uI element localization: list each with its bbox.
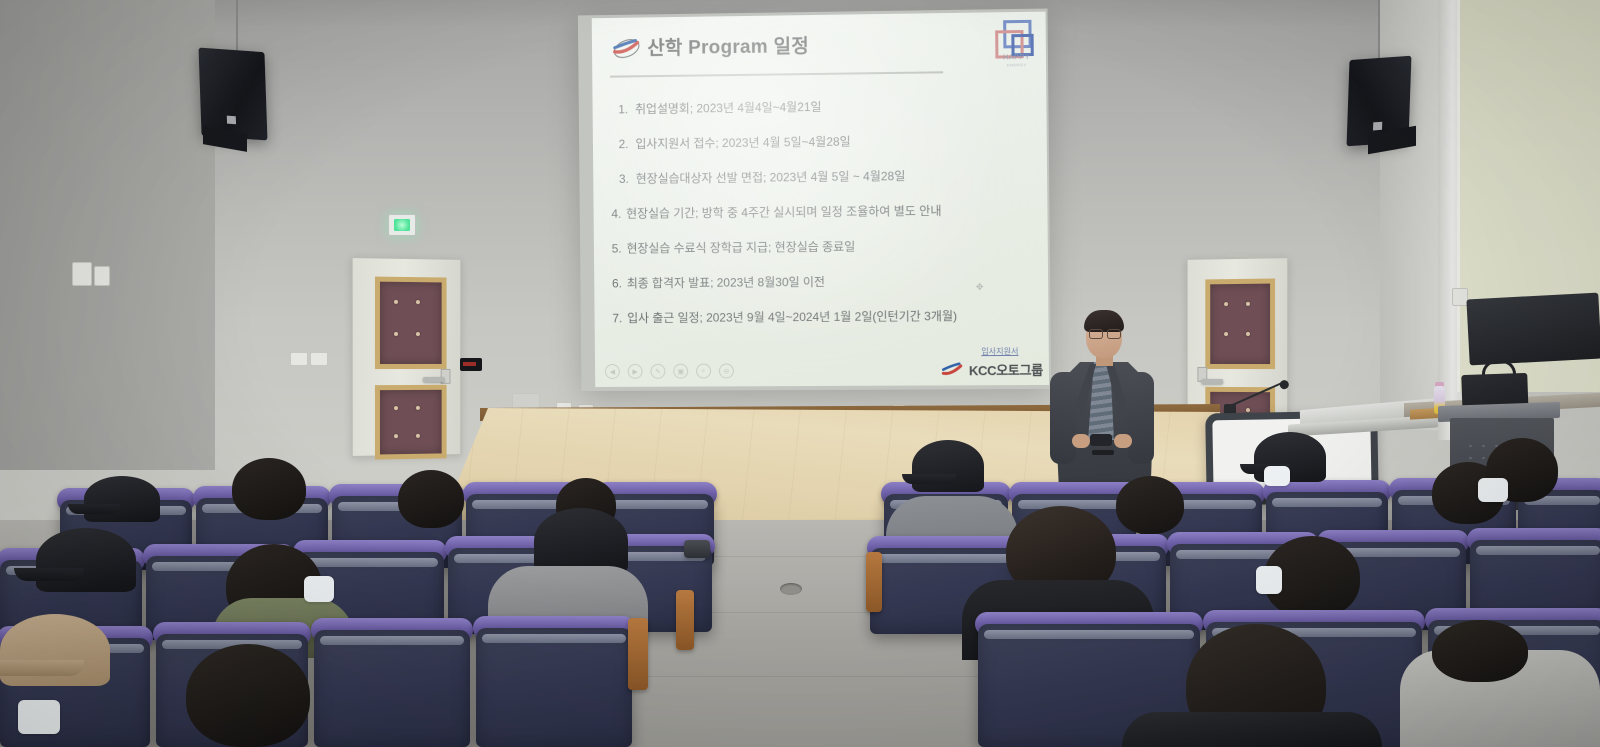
- presentation-slide: 산학 Program 일정 HAPPY ENERGY 1. 취업설명회; 202…: [592, 12, 1049, 387]
- speaker-right-pole: [1378, 0, 1380, 60]
- person-head: [1116, 476, 1184, 534]
- door-left-panel-lower: [375, 385, 447, 460]
- list-item-text: 입사지원서 접수; 2023년 4월 5일~4월28일: [635, 136, 850, 150]
- wall-outlet-b: [310, 352, 328, 366]
- list-item-text: 현장실습 기간; 방학 중 4주간 실시되며 일정 조율하여 별도 안내: [626, 205, 941, 220]
- list-item-text: 취업설명회; 2023년 4월4일~4월21일: [635, 101, 822, 115]
- speaker-left-pole: [236, 0, 238, 54]
- wall-monitor: [1466, 293, 1600, 366]
- list-item-number: 3.: [607, 173, 629, 185]
- face-mask: [1256, 566, 1282, 594]
- face-mask: [1478, 478, 1508, 502]
- door-left-handle[interactable]: [423, 377, 445, 382]
- kcc-footer-text: KCC오토그룹: [969, 360, 1043, 379]
- application-form-link[interactable]: 입사지원서: [981, 346, 1018, 357]
- pen-icon[interactable]: ✎: [650, 364, 665, 379]
- face-mask: [18, 700, 60, 734]
- person-head: [1432, 620, 1528, 682]
- wall-plate-left-a: [72, 262, 92, 286]
- list-item: 1. 취업설명회; 2023년 4월4일~4월21일: [606, 98, 1034, 115]
- door-right-handle[interactable]: [1201, 379, 1223, 384]
- list-item-number: 4.: [607, 208, 621, 220]
- seat-armrest: [628, 618, 648, 690]
- wall-outlet-a: [290, 352, 308, 366]
- eyeglasses-icon: [1089, 329, 1119, 337]
- list-item-text: 입사 출근 일정; 2023년 9월 4일~2024년 1월 2일(인턴기간 3…: [627, 310, 957, 324]
- person-head-cap: [534, 508, 628, 574]
- list-item-text: 현장실습 수료식 장학급 지급; 현장실습 종료일: [626, 241, 855, 255]
- presenter-arm-left: [1050, 372, 1076, 464]
- projection-screen: 산학 Program 일정 HAPPY ENERGY 1. 취업설명회; 202…: [578, 9, 1051, 392]
- slide-title-rule: [610, 71, 943, 77]
- exit-sign-glow: [394, 219, 410, 231]
- person-torso: [1122, 712, 1382, 747]
- list-item-number: 1.: [606, 103, 628, 115]
- door-left[interactable]: [352, 257, 462, 457]
- list-item-text: 현장실습대상자 선발 면접; 2023년 4월 5일 ~ 4월28일: [636, 170, 906, 185]
- presentation-clicker: [1090, 434, 1112, 446]
- person-head-cap: [36, 528, 136, 592]
- person-head: [398, 470, 464, 528]
- presenter-belt: [1092, 450, 1114, 455]
- speaker-right-badge: [1373, 122, 1382, 131]
- person-head: [186, 644, 310, 747]
- list-item: 7. 입사 출근 일정; 2023년 9월 4일~2024년 1월 2일(인턴기…: [608, 310, 1036, 325]
- person-head-cap-tan: [0, 614, 110, 686]
- prev-slide-icon[interactable]: ◀: [605, 364, 620, 379]
- list-item: 3. 현장실습대상자 선발 면접; 2023년 4월 5일 ~ 4월28일: [607, 169, 1035, 185]
- next-slide-icon[interactable]: ▶: [628, 364, 643, 379]
- door-keypad[interactable]: [460, 358, 482, 371]
- mouse-cursor: ✥: [976, 282, 984, 293]
- wall-plate-left-b: [94, 266, 110, 286]
- slide-title: 산학 Program 일정: [647, 31, 809, 60]
- speaker-left-badge: [227, 116, 236, 125]
- person-head-cap: [84, 476, 160, 522]
- list-item-number: 5.: [608, 243, 622, 255]
- slide-header: 산학 Program 일정: [602, 26, 1032, 76]
- microphone-arm: [1228, 382, 1284, 408]
- list-item-text: 최종 합격자 발표; 2023년 8월30일 이전: [627, 276, 825, 289]
- kcc-footer-logo: KCC오토그룹: [939, 360, 1043, 380]
- seat-tablet-arm: [684, 540, 710, 558]
- person-head-cap: [912, 440, 984, 492]
- slide-agenda-list: 1. 취업설명회; 2023년 4월4일~4월21일 2. 입사지원서 접수; …: [606, 98, 1036, 347]
- door-left-panel-upper: [375, 277, 447, 370]
- door-right-panel-upper: [1205, 278, 1275, 369]
- auditorium-presentation-photo: 산학 Program 일정 HAPPY ENERGY 1. 취업설명회; 202…: [0, 0, 1600, 747]
- zoom-icon[interactable]: ⌕: [696, 364, 711, 379]
- presenter-arm-right: [1128, 372, 1154, 464]
- face-mask: [304, 576, 334, 602]
- list-item: 5. 현장실습 수료식 장학급 지급; 현장실습 종료일: [608, 239, 1036, 255]
- list-item: 2. 입사지원서 접수; 2023년 4월 5일~4월28일: [607, 133, 1035, 150]
- face-mask: [1264, 466, 1290, 486]
- slides-grid-icon[interactable]: ▣: [673, 364, 688, 379]
- seat-armrest: [866, 552, 882, 612]
- person-head: [232, 458, 306, 520]
- left-wall: [0, 0, 215, 470]
- list-item: 6. 최종 합격자 발표; 2023년 8월30일 이전: [608, 274, 1036, 289]
- presentation-controls[interactable]: ◀ ▶ ✎ ▣ ⌕ ⊖: [605, 363, 734, 379]
- happy-logo: HAPPY ENERGY: [993, 20, 1040, 73]
- happy-logo-square-blue-small: [1011, 34, 1033, 56]
- presenter-hand-right: [1114, 434, 1132, 448]
- seat: [476, 628, 632, 747]
- seat-armrest: [676, 590, 694, 650]
- list-item-number: 2.: [607, 138, 629, 150]
- floor-drain: [780, 583, 802, 595]
- more-options-icon[interactable]: ⊖: [719, 363, 734, 378]
- list-item: 4. 현장실습 기간; 방학 중 4주간 실시되며 일정 조율하여 별도 안내: [607, 204, 1035, 220]
- list-item-number: 6.: [608, 277, 622, 289]
- kcc-swoosh-icon: [939, 362, 965, 378]
- emergency-exit-sign: [388, 214, 416, 236]
- happy-logo-subtext: ENERGY: [993, 62, 1040, 68]
- list-item-number: 7.: [608, 312, 622, 324]
- kcc-swoosh-logo: [612, 37, 642, 59]
- seat: [314, 630, 470, 747]
- presenter-hand-left: [1072, 434, 1090, 448]
- happy-logo-text: HAPPY: [993, 54, 1040, 62]
